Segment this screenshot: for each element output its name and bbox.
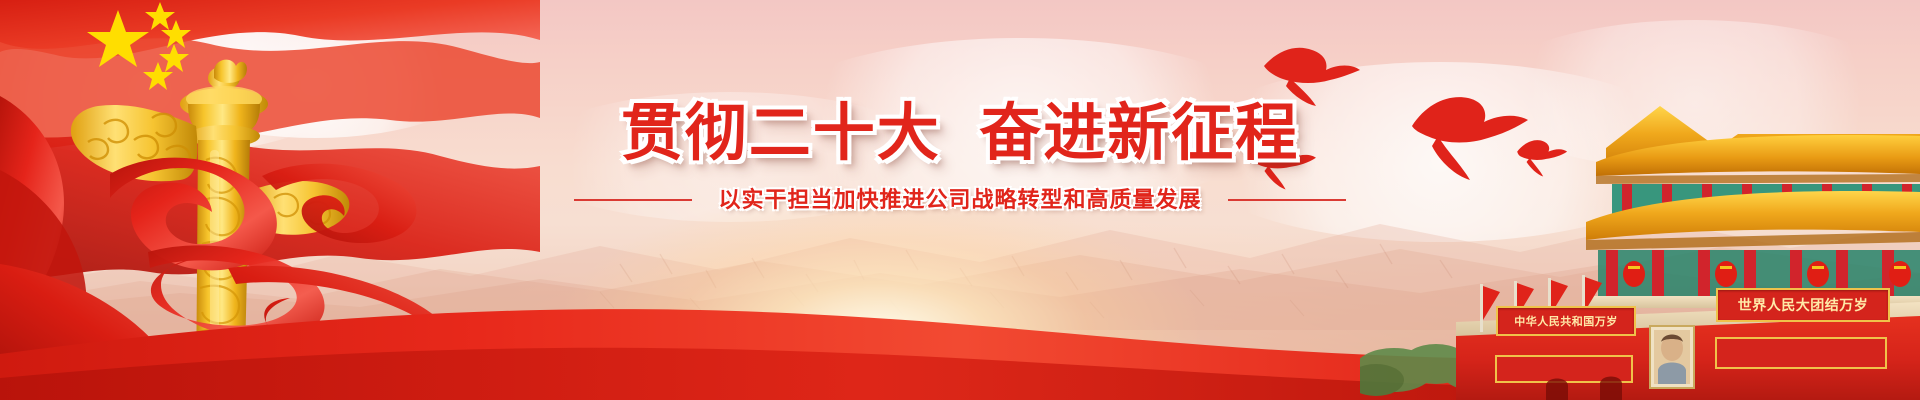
rule-left — [574, 199, 692, 201]
party-banner: 中华人民共和国万岁 世界人民大团结万岁 贯彻二十大 奋进新征程 以实干担当加快推… — [0, 0, 1920, 400]
subtitle-row: 以实干担当加快推进公司战略转型和高质量发展 — [574, 188, 1345, 212]
headline-block: 贯彻二十大 奋进新征程 以实干担当加快推进公司战略转型和高质量发展 — [0, 0, 1920, 400]
page-subtitle: 以实干担当加快推进公司战略转型和高质量发展 — [718, 188, 1201, 212]
rule-right — [1228, 199, 1346, 201]
page-title: 贯彻二十大 奋进新征程 — [621, 102, 1299, 166]
